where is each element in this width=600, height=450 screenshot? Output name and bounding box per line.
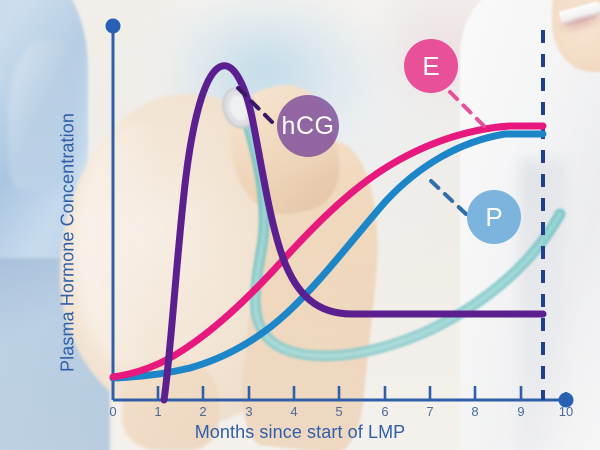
figure-canvas: 0 1 2 3 4 5 6 7 8 9 10 Months since star… bbox=[0, 0, 600, 450]
x-tick-8: 8 bbox=[463, 404, 487, 419]
legend-bubble-p[interactable]: P bbox=[467, 190, 521, 244]
x-axis-ticks bbox=[113, 386, 566, 400]
x-tick-2: 2 bbox=[191, 404, 215, 419]
x-tick-0: 0 bbox=[101, 404, 125, 419]
x-tick-3: 3 bbox=[237, 404, 261, 419]
x-axis-title: Months since start of LMP bbox=[0, 422, 600, 443]
x-tick-10: 10 bbox=[554, 404, 578, 419]
x-tick-4: 4 bbox=[282, 404, 306, 419]
x-tick-5: 5 bbox=[327, 404, 351, 419]
leader-e bbox=[450, 92, 486, 128]
x-tick-9: 9 bbox=[509, 404, 533, 419]
x-tick-1: 1 bbox=[146, 404, 170, 419]
y-axis-end-cap bbox=[106, 19, 121, 34]
legend-bubble-hcg[interactable]: hCG bbox=[277, 95, 339, 157]
x-tick-7: 7 bbox=[418, 404, 442, 419]
y-axis-title: Plasma Hormone Concentration bbox=[58, 93, 79, 393]
x-tick-6: 6 bbox=[373, 404, 397, 419]
leader-p bbox=[430, 180, 466, 214]
legend-bubble-e[interactable]: E bbox=[404, 39, 458, 93]
